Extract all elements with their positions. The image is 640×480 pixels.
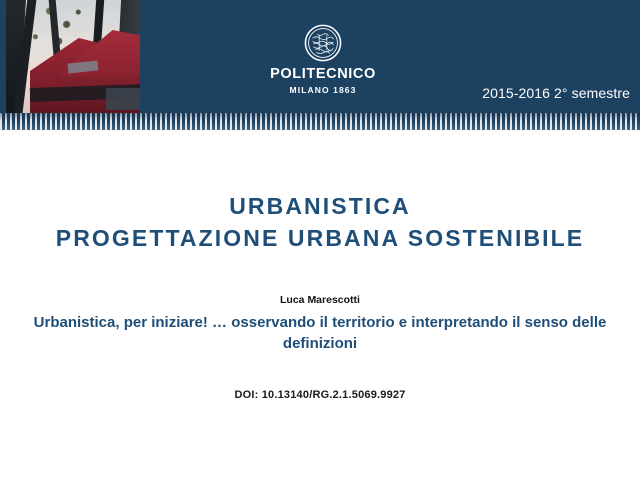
politecnico-seal-icon bbox=[304, 24, 342, 62]
stripe-band-shading bbox=[0, 113, 640, 130]
page-title: URBANISTICA PROGETTAZIONE URBANA SOSTENI… bbox=[0, 190, 640, 254]
politecnico-logo: POLITECNICO MILANO 1863 bbox=[248, 24, 398, 95]
architecture-photo-thumbnail bbox=[6, 0, 140, 113]
photo-window bbox=[106, 88, 140, 110]
presentation-slide: POLITECNICO MILANO 1863 2015-2016 2° sem… bbox=[0, 0, 640, 480]
decorative-stripe-band bbox=[0, 113, 640, 130]
subtitle-text: Urbanistica, per iniziare! … osservando … bbox=[10, 312, 630, 354]
politecnico-logo-subtitle: MILANO 1863 bbox=[248, 85, 398, 95]
title-line-1: URBANISTICA bbox=[229, 193, 411, 219]
politecnico-logo-name: POLITECNICO bbox=[248, 67, 398, 82]
doi-label: DOI: 10.13140/RG.2.1.5069.9927 bbox=[0, 389, 640, 401]
title-line-2: PROGETTAZIONE URBANA SOSTENIBILE bbox=[0, 222, 640, 254]
slide-header: POLITECNICO MILANO 1863 2015-2016 2° sem… bbox=[0, 0, 640, 113]
author-name: Luca Marescotti bbox=[0, 294, 640, 306]
semester-label: 2015-2016 2° semestre bbox=[482, 85, 630, 101]
